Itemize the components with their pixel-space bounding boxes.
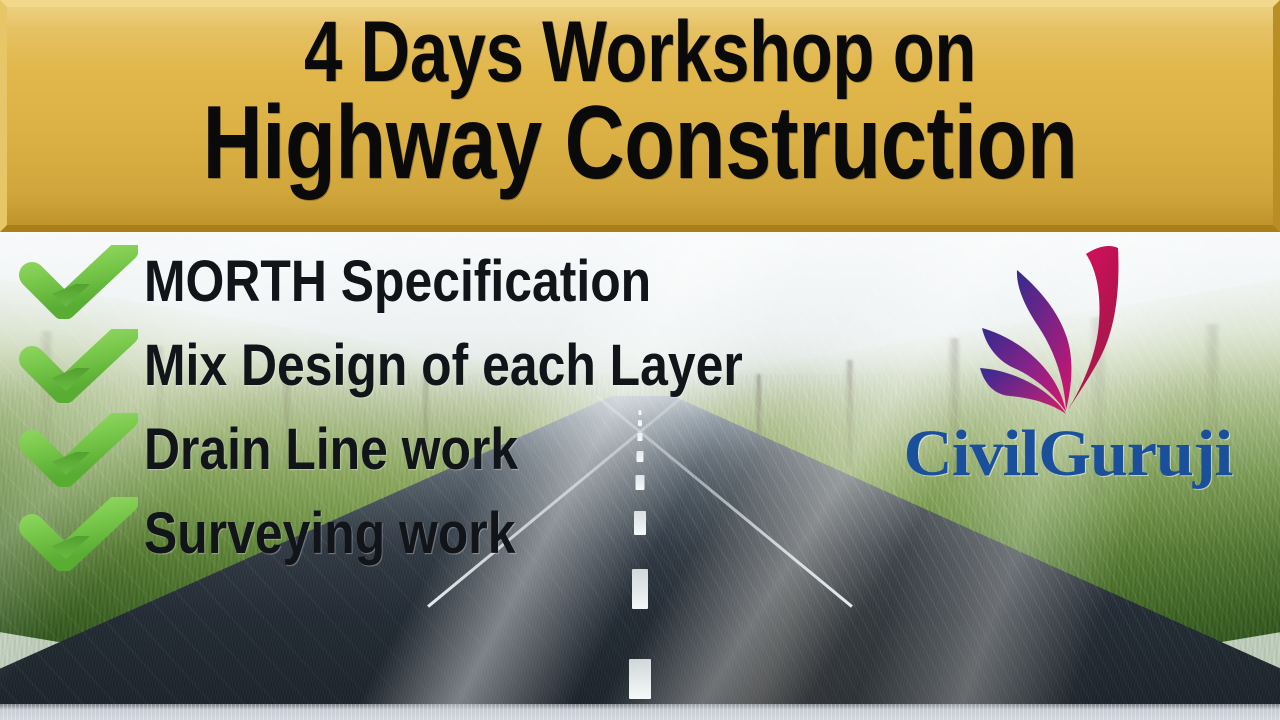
- list-item: Surveying work: [18, 498, 848, 570]
- feature-list: MORTH Specification: [18, 246, 848, 570]
- title-line-1: 4 Days Workshop on: [134, 13, 1147, 92]
- list-item: Mix Design of each Layer: [18, 330, 848, 402]
- page-title: 4 Days Workshop on Highway Construction: [7, 13, 1273, 192]
- list-item: Drain Line work: [18, 414, 848, 486]
- brand-logo: CivilGuruji: [872, 244, 1264, 490]
- list-item-label: MORTH Specification: [144, 253, 651, 311]
- poster-canvas: 4 Days Workshop on Highway Construction: [0, 0, 1280, 720]
- brand-wordmark: CivilGuruji: [866, 416, 1270, 492]
- list-item-label: Surveying work: [144, 505, 515, 563]
- green-check-icon: [18, 329, 144, 403]
- list-item-label: Mix Design of each Layer: [144, 337, 743, 395]
- title-line-2: Highway Construction: [134, 96, 1147, 192]
- civilguruji-flame-icon: [968, 244, 1168, 422]
- green-check-icon: [18, 413, 144, 487]
- green-check-icon: [18, 497, 144, 571]
- title-banner: 4 Days Workshop on Highway Construction: [0, 0, 1280, 232]
- green-check-icon: [18, 245, 144, 319]
- list-item: MORTH Specification: [18, 246, 848, 318]
- bottom-light-band: [0, 704, 1280, 720]
- list-item-label: Drain Line work: [144, 421, 518, 479]
